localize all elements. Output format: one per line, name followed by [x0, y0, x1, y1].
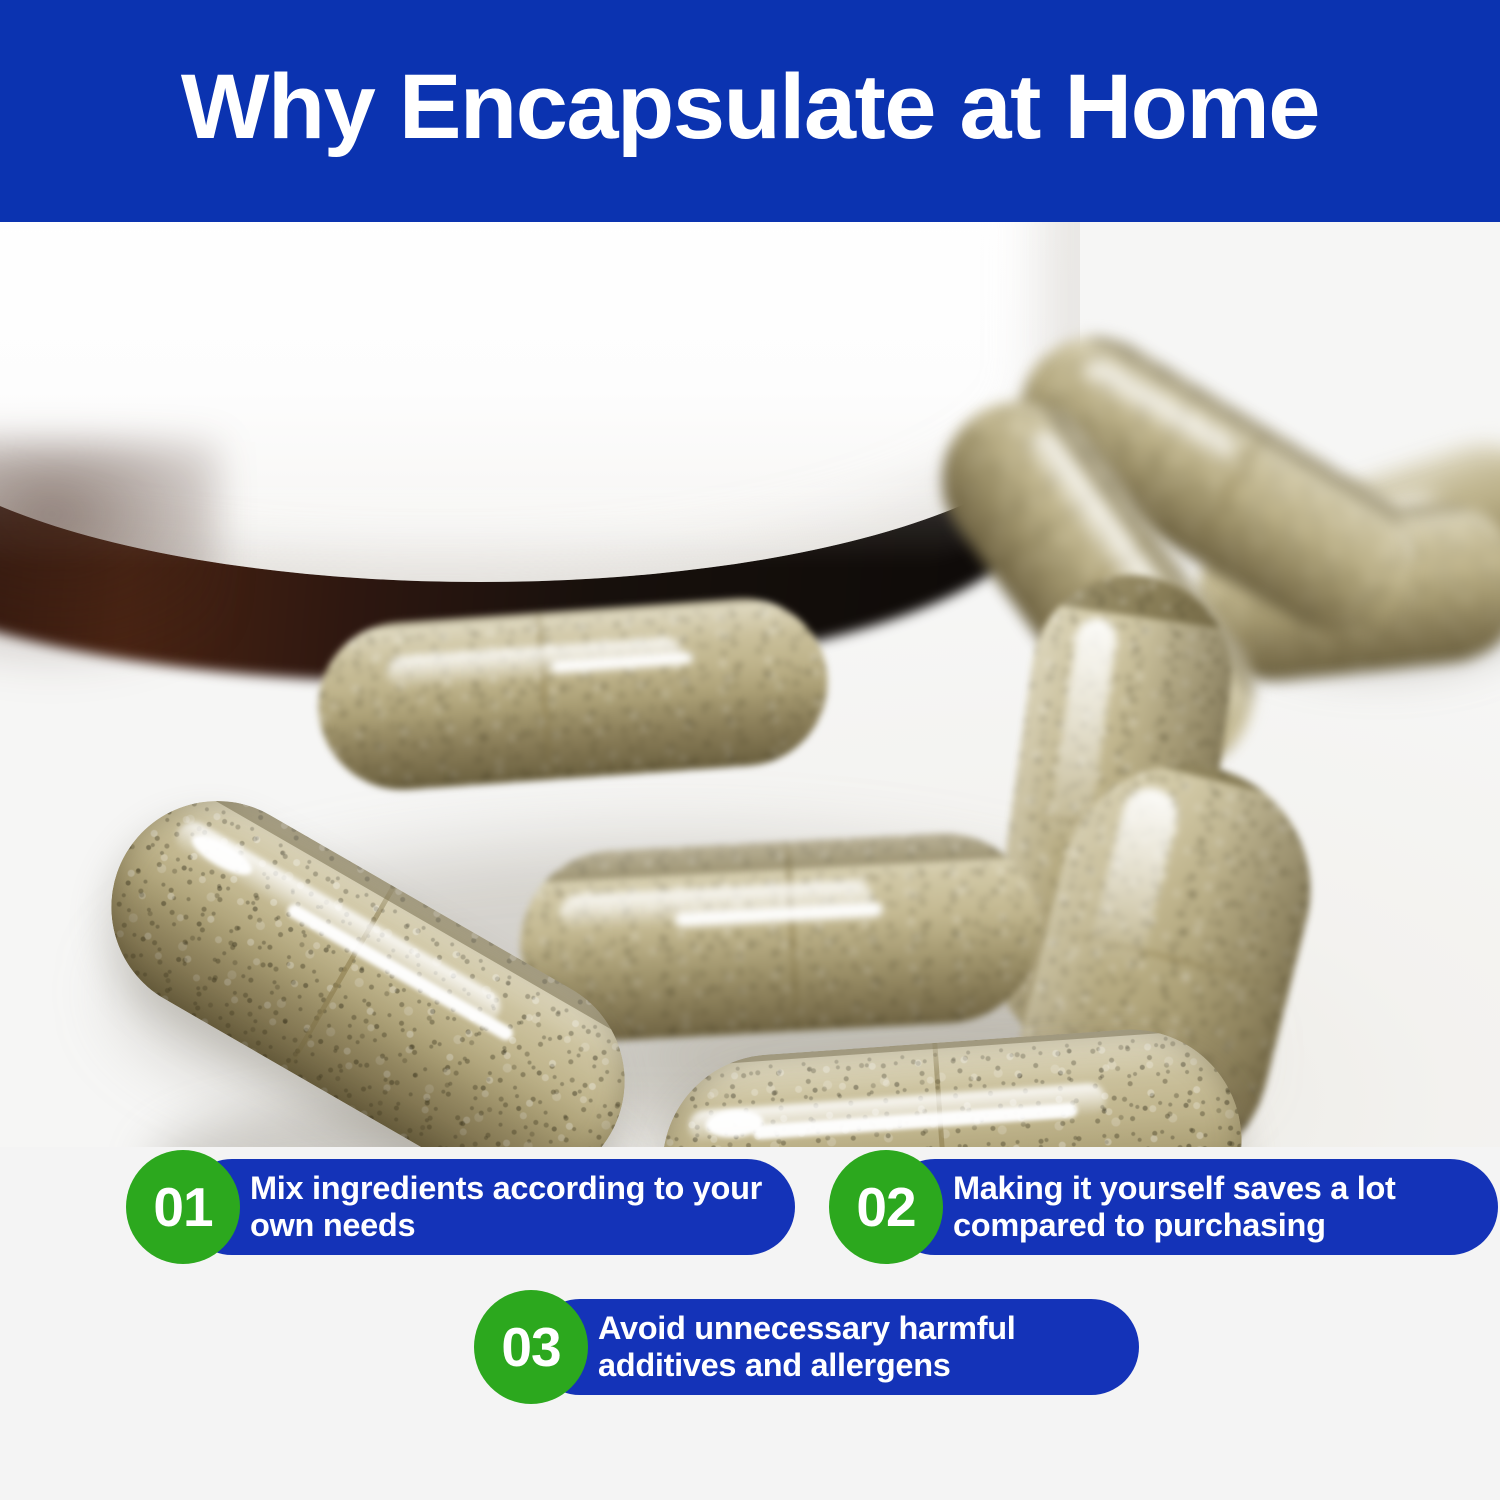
- benefit-pill-02: Making it yourself saves a lot compared …: [887, 1159, 1498, 1255]
- infographic-page: Why Encapsulate at Home: [0, 0, 1500, 1500]
- benefit-number-02: 02: [856, 1180, 915, 1235]
- benefit-text-01: Mix ingredients according to your own ne…: [184, 1170, 795, 1244]
- benefit-pill-01: Mix ingredients according to your own ne…: [184, 1159, 795, 1255]
- benefit-number-03: 03: [501, 1320, 560, 1375]
- benefit-pill-03: Avoid unnecessary harmful additives and …: [532, 1299, 1139, 1395]
- benefit-number-01: 01: [153, 1180, 212, 1235]
- benefit-number-badge-02: 02: [829, 1150, 943, 1264]
- benefit-text-02: Making it yourself saves a lot compared …: [887, 1170, 1498, 1244]
- benefit-text-03: Avoid unnecessary harmful additives and …: [532, 1310, 1139, 1384]
- benefit-number-badge-01: 01: [126, 1150, 240, 1264]
- benefit-number-badge-03: 03: [474, 1290, 588, 1404]
- benefits-list: Mix ingredients according to your own ne…: [0, 0, 1500, 1500]
